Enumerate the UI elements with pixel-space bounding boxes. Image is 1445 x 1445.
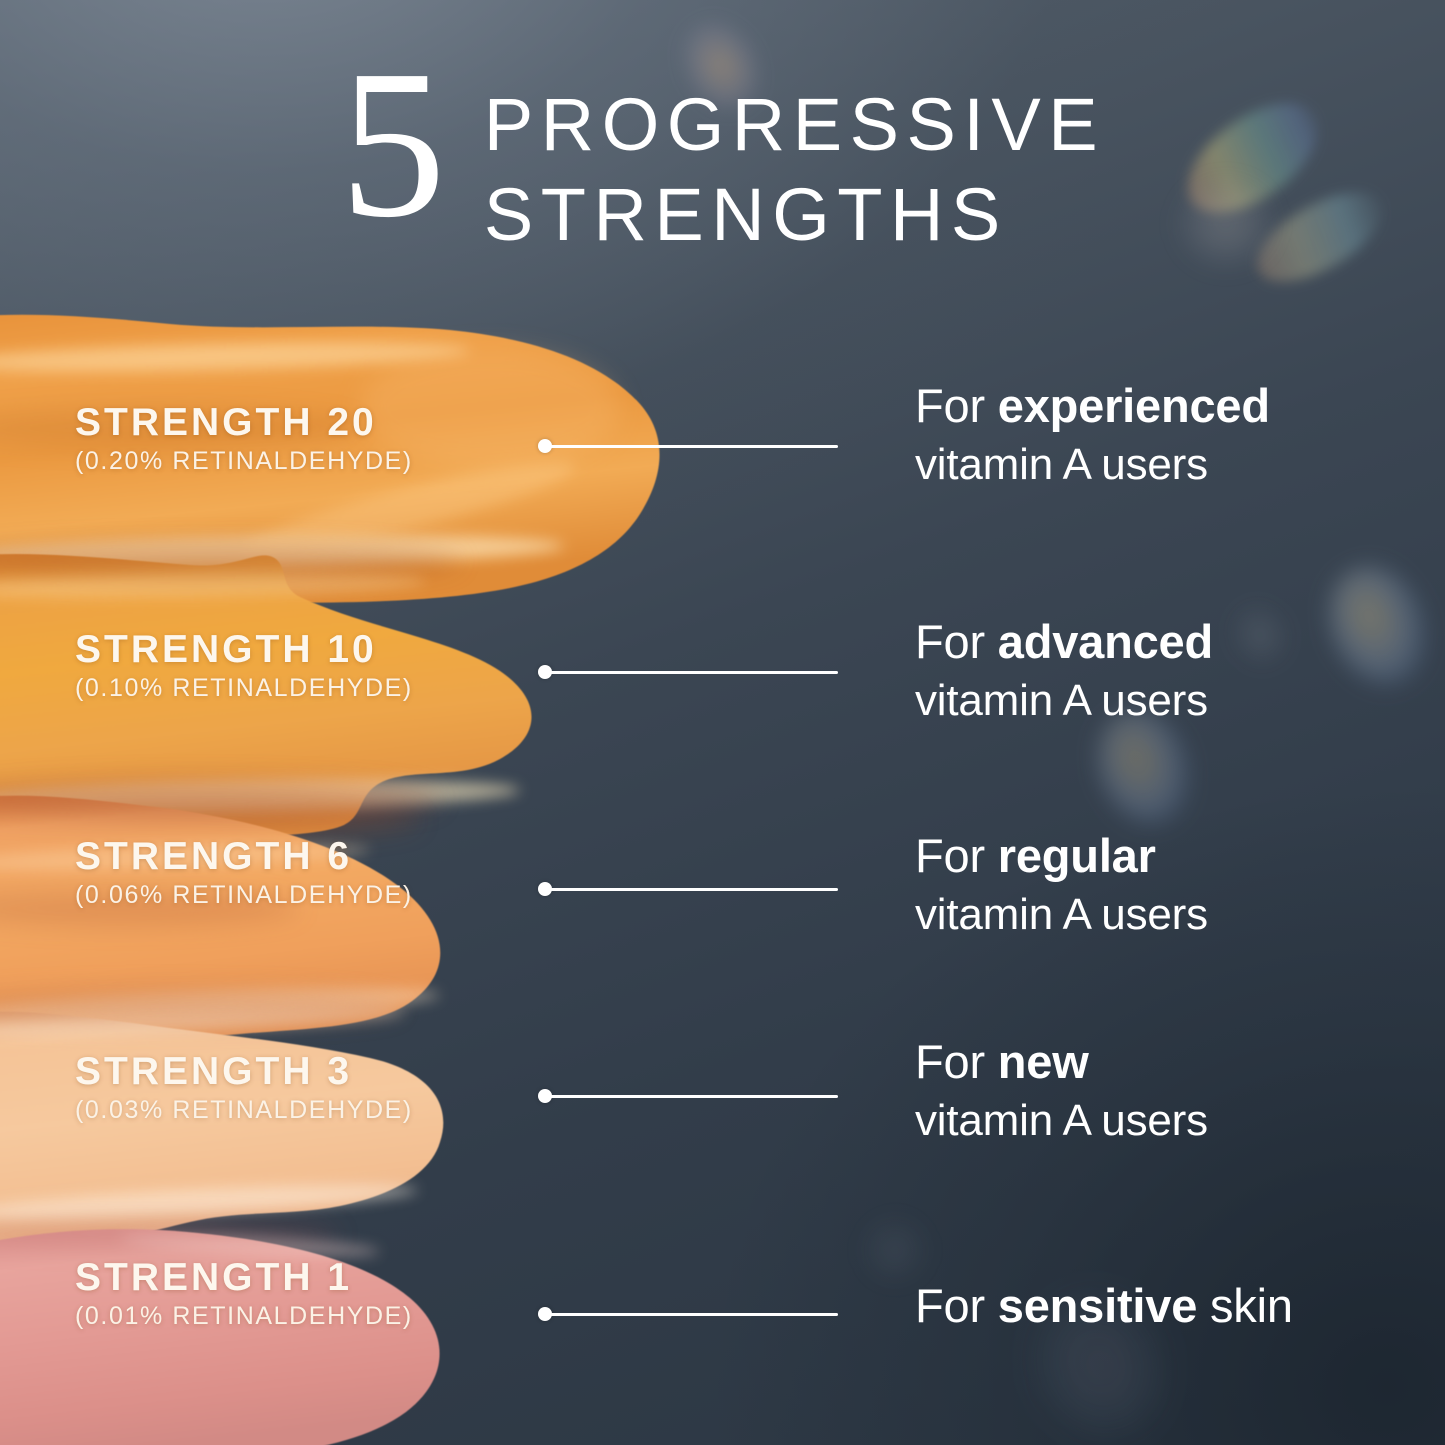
connector-rule: [545, 888, 838, 891]
description-line-2: vitamin A users: [915, 679, 1213, 723]
description-strength-6: For regular vitamin A users: [915, 832, 1208, 937]
strength-title: STRENGTH 1: [75, 1258, 413, 1297]
connector-rule: [545, 671, 838, 674]
strength-label-6: STRENGTH 6 (0.06% RETINALDEHYDE): [75, 837, 413, 908]
connector-line-strength-20: [538, 437, 838, 455]
product-strength-infographic: 5 PROGRESSIVE STRENGTHS: [0, 0, 1445, 1445]
strength-label-20: STRENGTH 20 (0.20% RETINALDEHYDE): [75, 403, 413, 474]
bokeh-icon: [1218, 591, 1302, 680]
description-line-1: For new: [915, 1038, 1208, 1085]
connector-rule: [545, 1313, 838, 1316]
description-line-1: For advanced: [915, 618, 1213, 665]
strength-title: STRENGTH 10: [75, 630, 413, 669]
bokeh-icon: [860, 1215, 930, 1285]
strength-concentration: (0.03% RETINALDEHYDE): [75, 1098, 413, 1123]
strength-title: STRENGTH 20: [75, 403, 413, 442]
description-emphasis: experienced: [998, 379, 1270, 432]
strength-label-10: STRENGTH 10 (0.10% RETINALDEHYDE): [75, 630, 413, 701]
headline-number: 5: [340, 54, 442, 234]
description-line-2: vitamin A users: [915, 893, 1208, 937]
strength-title: STRENGTH 6: [75, 837, 413, 876]
connector-rule: [545, 1095, 838, 1098]
description-line-2: vitamin A users: [915, 1099, 1208, 1143]
description-emphasis: sensitive: [998, 1279, 1197, 1332]
description-strength-1: For sensitive skin: [915, 1282, 1293, 1329]
strength-title: STRENGTH 3: [75, 1052, 413, 1091]
description-strength-3: For new vitamin A users: [915, 1038, 1208, 1143]
description-prefix: For: [915, 829, 998, 882]
headline: 5 PROGRESSIVE STRENGTHS: [0, 52, 1445, 261]
connector-line-strength-3: [538, 1087, 838, 1105]
description-prefix: For: [915, 379, 998, 432]
connector-line-strength-1: [538, 1305, 838, 1323]
description-prefix: For: [915, 1279, 998, 1332]
strength-label-1: STRENGTH 1 (0.01% RETINALDEHYDE): [75, 1258, 413, 1329]
description-line-1: For sensitive skin: [915, 1282, 1293, 1329]
strength-label-3: STRENGTH 3 (0.03% RETINALDEHYDE): [75, 1052, 413, 1123]
bokeh-icon: [1312, 552, 1443, 700]
strength-concentration: (0.06% RETINALDEHYDE): [75, 883, 413, 908]
description-line-1: For experienced: [915, 382, 1270, 429]
description-line-2: vitamin A users: [915, 443, 1270, 487]
description-emphasis: advanced: [998, 615, 1213, 668]
connector-line-strength-6: [538, 880, 838, 898]
strength-concentration: (0.01% RETINALDEHYDE): [75, 1304, 413, 1329]
headline-line-2: STRENGTHS: [484, 170, 1105, 260]
swatch-strength-1: [0, 1220, 580, 1445]
description-emphasis: new: [998, 1035, 1089, 1088]
description-line-1: For regular: [915, 832, 1208, 879]
connector-rule: [545, 445, 838, 448]
description-suffix: skin: [1197, 1279, 1293, 1332]
description-prefix: For: [915, 615, 998, 668]
strength-concentration: (0.10% RETINALDEHYDE): [75, 676, 413, 701]
connector-line-strength-10: [538, 663, 838, 681]
description-strength-10: For advanced vitamin A users: [915, 618, 1213, 723]
description-emphasis: regular: [998, 829, 1156, 882]
description-prefix: For: [915, 1035, 998, 1088]
description-strength-20: For experienced vitamin A users: [915, 382, 1270, 487]
headline-line-1: PROGRESSIVE: [484, 80, 1105, 170]
headline-words: PROGRESSIVE STRENGTHS: [484, 80, 1105, 261]
strength-concentration: (0.20% RETINALDEHYDE): [75, 449, 413, 474]
